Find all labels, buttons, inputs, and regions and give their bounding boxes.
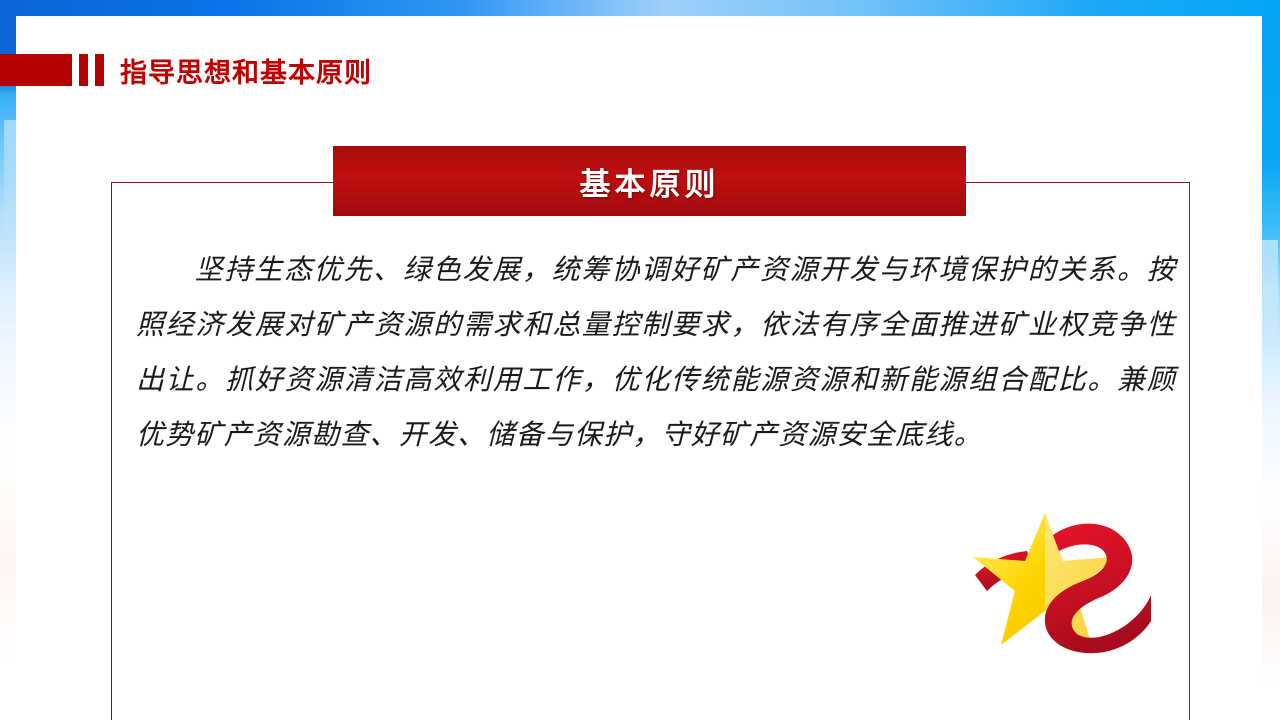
section-banner: 基本原则 [333,146,966,216]
background-left-sky-strip [0,0,16,720]
slide-canvas: 指导思想和基本原则 基本原则 坚持生态优先、绿色发展，统筹协调好矿产资源开发与环… [0,0,1280,720]
slide-header: 指导思想和基本原则 [0,50,372,90]
background-right-cloud [1262,240,1278,350]
background-left-cloud [4,120,16,240]
background-right-sky-strip [1262,0,1280,720]
header-red-bar-icon-1 [79,54,88,86]
background-right-top-corner [1262,0,1280,16]
page-title: 指导思想和基本原则 [120,51,372,90]
section-banner-title: 基本原则 [580,159,720,204]
background-top-band [0,0,1280,16]
body-paragraph: 坚持生态优先、绿色发展，统筹协调好矿产资源开发与环境保护的关系。按照经济发展对矿… [136,243,1176,463]
star-ribbon-logo-icon [955,495,1170,665]
header-red-bar-icon-2 [95,54,104,86]
header-red-block-icon [0,54,72,86]
